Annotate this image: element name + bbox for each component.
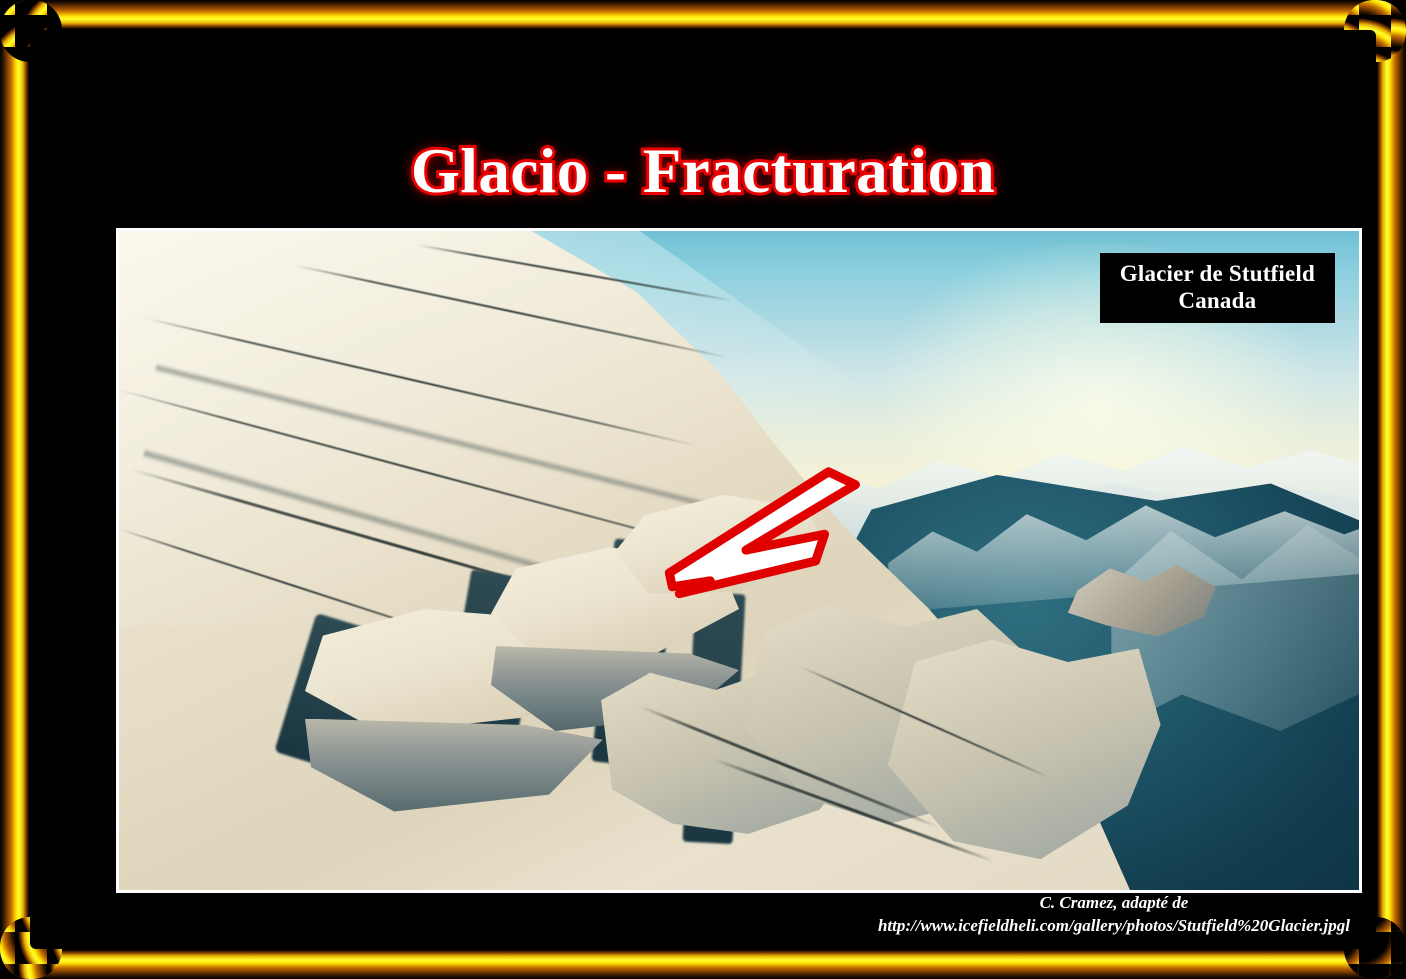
source-credit: C. Cramez, adapté de http://www.icefield…	[878, 892, 1350, 937]
location-label-line2: Canada	[1178, 288, 1256, 313]
glacier-photograph: Glacier de StutfieldCanada	[119, 231, 1359, 890]
credit-url: http://www.icefieldheli.com/gallery/phot…	[878, 915, 1350, 937]
location-label-line1: Glacier de Stutfield	[1120, 261, 1315, 286]
slide-title: Glacio - Fracturation	[30, 140, 1376, 203]
photo-location-label: Glacier de StutfieldCanada	[1100, 253, 1335, 323]
slide-frame: Glacio - Fracturation	[0, 0, 1406, 979]
slide-content-area: Glacio - Fracturation	[30, 30, 1376, 949]
photo-figure: Glacier de StutfieldCanada	[116, 228, 1362, 893]
credit-author: C. Cramez, adapté de	[878, 892, 1350, 914]
